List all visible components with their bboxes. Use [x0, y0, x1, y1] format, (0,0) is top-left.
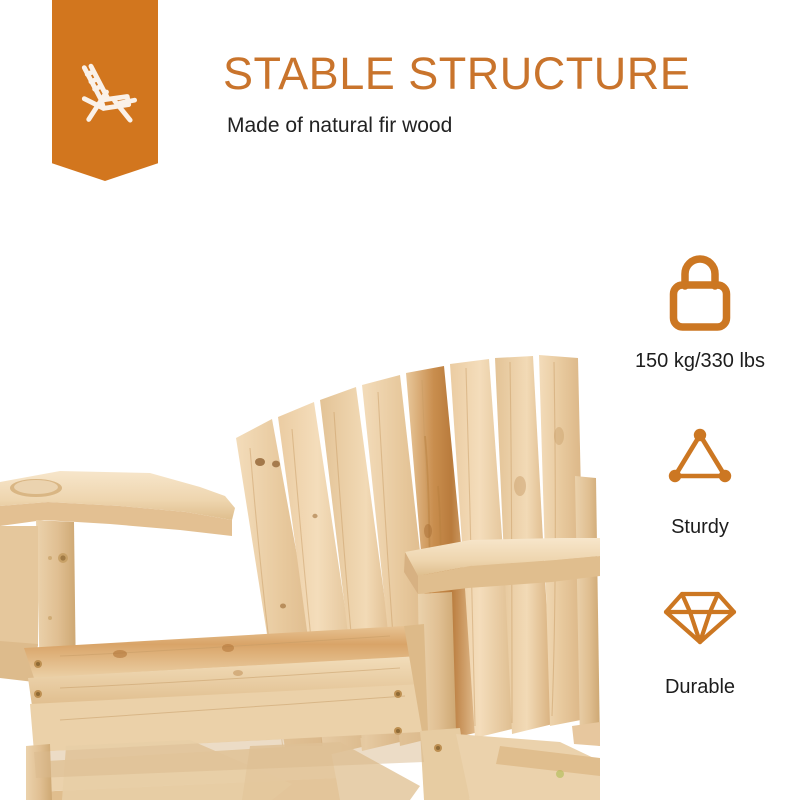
feature-label-durable: Durable	[612, 674, 788, 700]
lock-icon	[661, 250, 739, 334]
feature-label-weight-capacity: 150 kg/330 lbs	[612, 348, 788, 374]
product-photo	[0, 186, 620, 800]
triangle-icon	[665, 425, 735, 489]
product-feature-banner: STABLE STRUCTURE Made of natural fir woo…	[0, 0, 800, 800]
page-subtitle: Made of natural fir wood	[227, 112, 452, 140]
diamond-icon-wrapper	[612, 582, 788, 652]
feature-item-durable: Durable	[612, 582, 788, 700]
diamond-icon	[662, 586, 738, 648]
banner-ribbon	[52, 0, 158, 181]
feature-label-sturdy: Sturdy	[612, 514, 788, 540]
lounge-chair-icon	[68, 58, 142, 132]
feature-item-weight-capacity: 150 kg/330 lbs	[612, 250, 788, 374]
triangle-icon-wrapper	[612, 422, 788, 492]
feature-item-sturdy: Sturdy	[612, 422, 788, 540]
page-title: STABLE STRUCTURE	[223, 48, 690, 100]
lock-icon-wrapper	[612, 250, 788, 334]
chair-illustration	[0, 186, 620, 800]
